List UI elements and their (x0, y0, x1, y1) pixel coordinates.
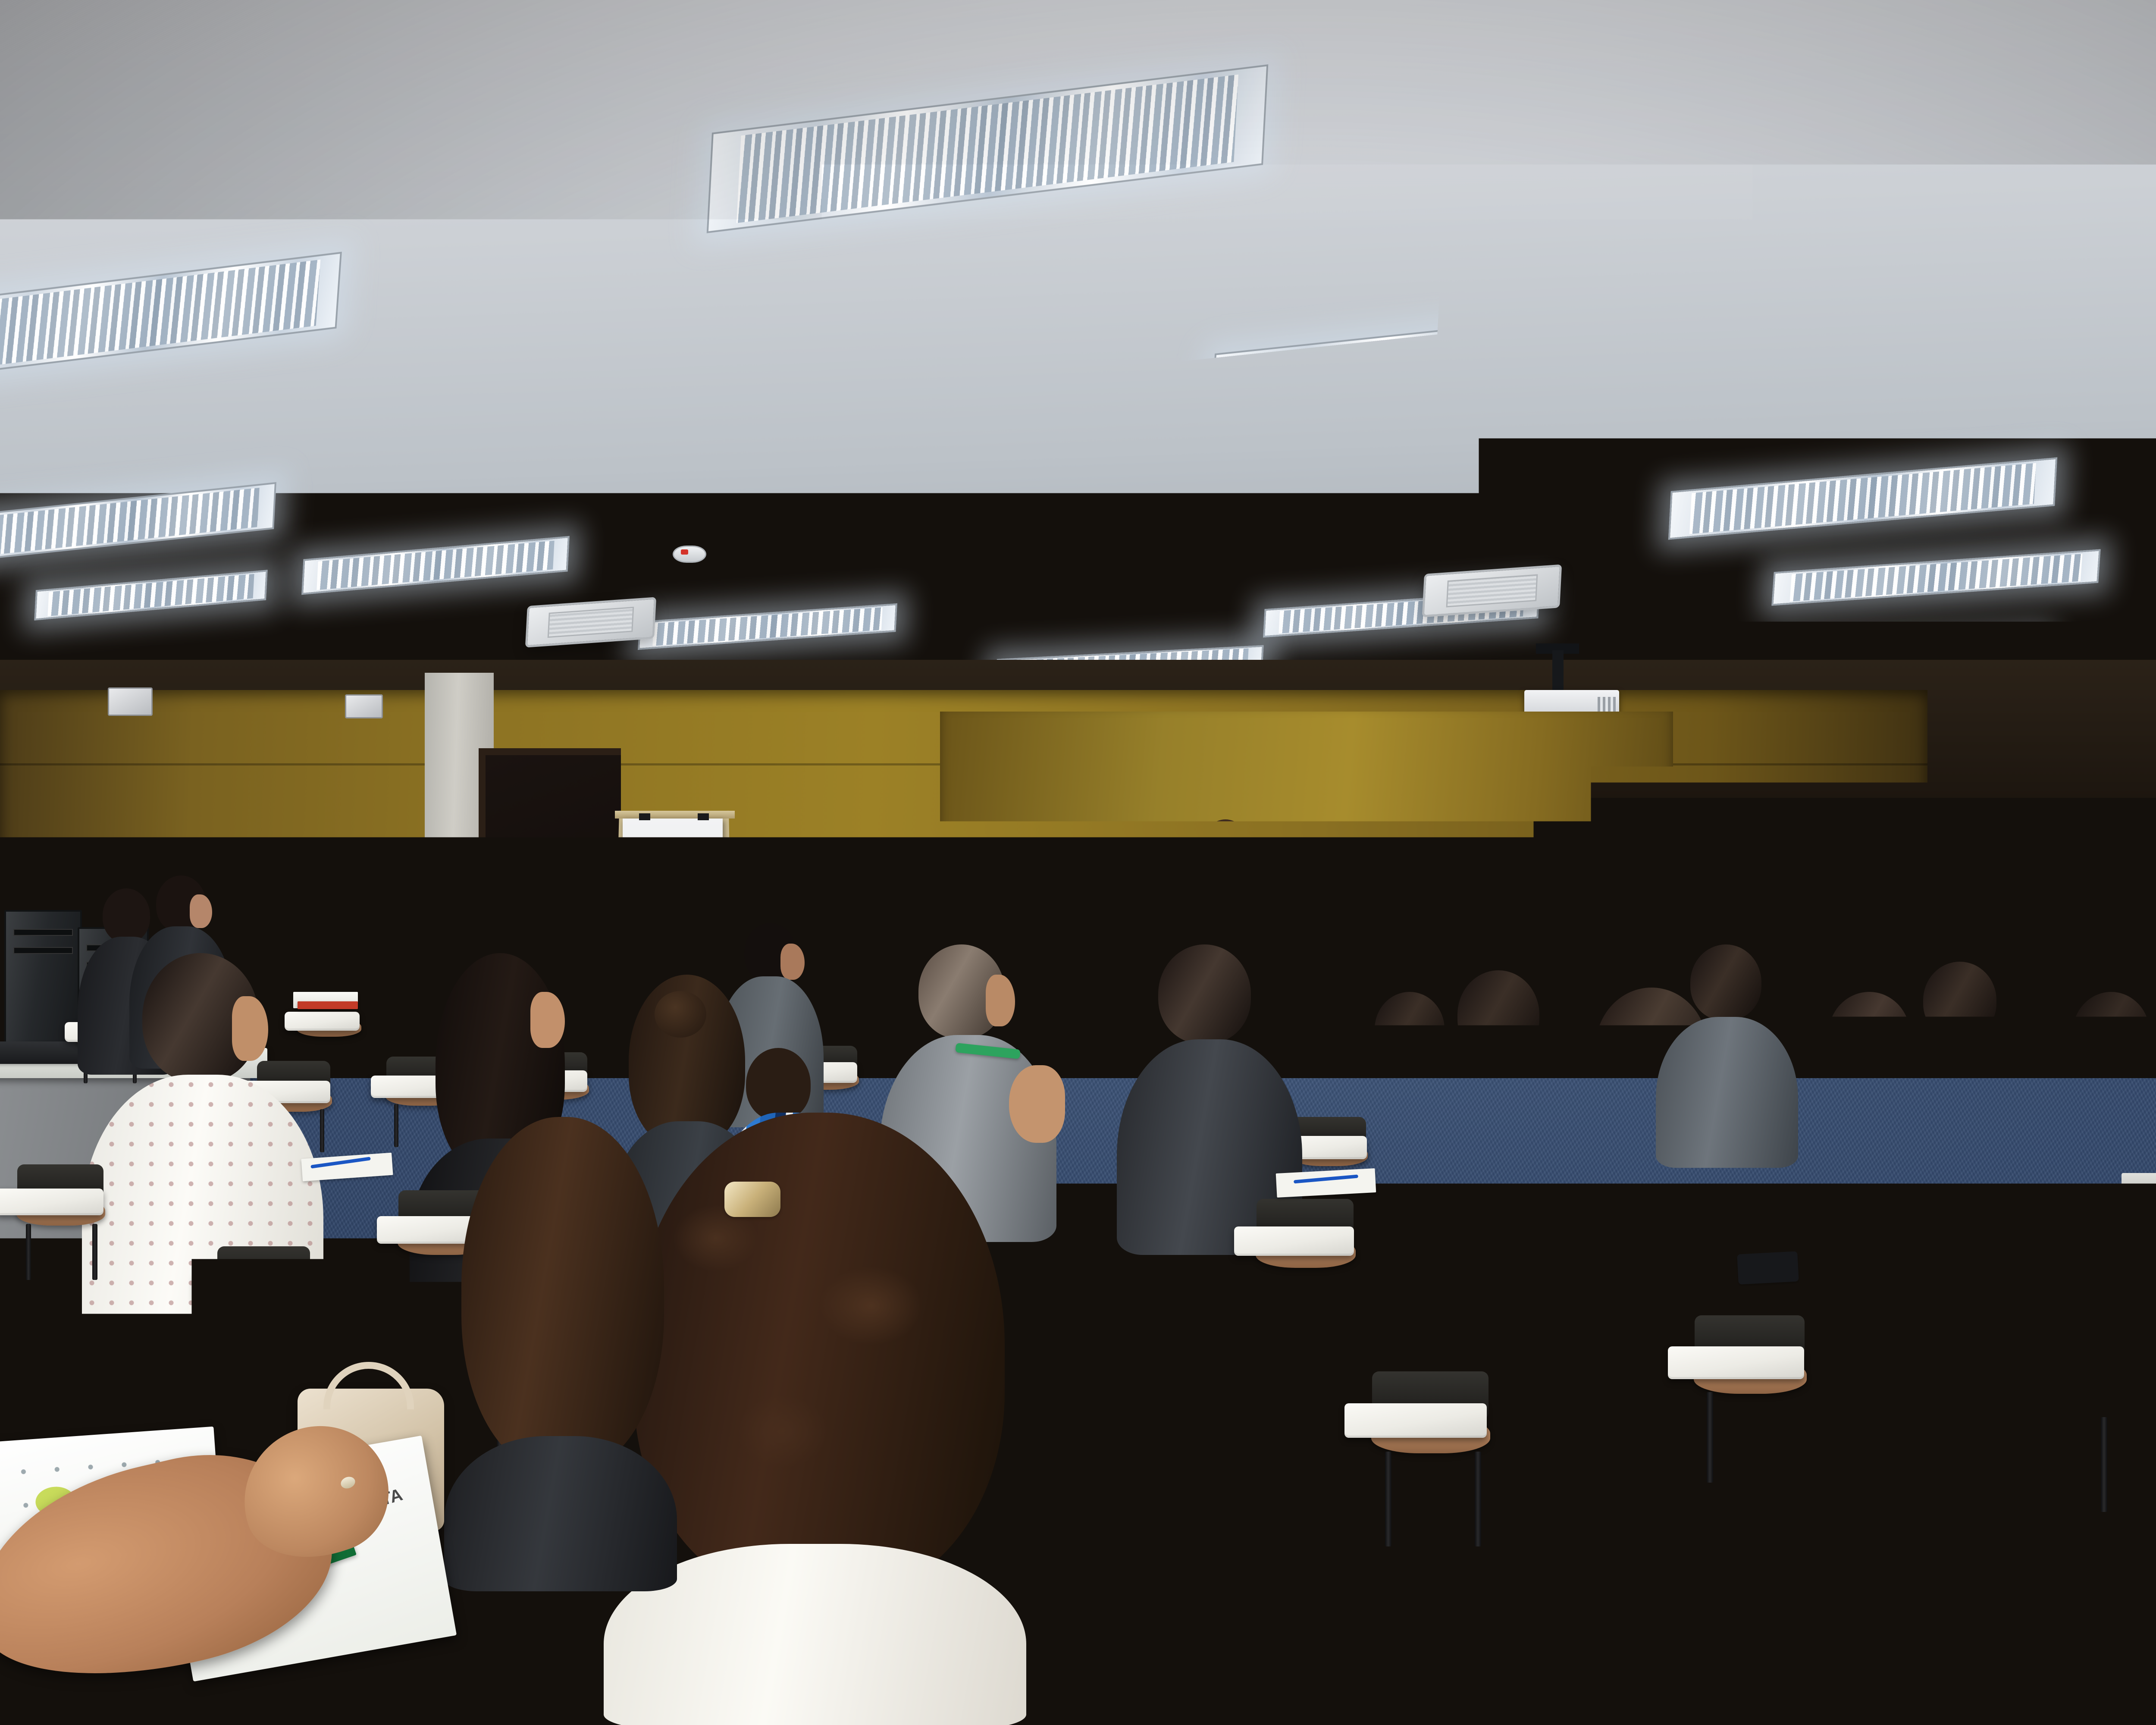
subtitle-1a: Administração (1946, 856, 2028, 872)
slide-subtitle-line-1: Administração de Recursos (1946, 856, 2156, 872)
chair-leg (1858, 1550, 1865, 1658)
projector-mount-arm (1552, 650, 1564, 692)
chair-tablet-arm (1906, 1271, 2034, 1302)
person-face (986, 975, 1015, 1026)
chair-leg (2101, 1417, 2107, 1512)
chair-leg (1185, 1367, 1191, 1449)
auditorium-scene: IFCE CAPACITA INSTITUTO (0, 0, 2156, 1725)
chair-leg (1707, 1392, 1713, 1483)
panelist-face (1334, 837, 1366, 872)
person-face (190, 894, 212, 928)
wall-speaker (108, 687, 153, 716)
chair-leg (1102, 1367, 1108, 1449)
chair-leg (92, 1224, 97, 1280)
person-face (530, 992, 565, 1048)
chair-leg (26, 1224, 31, 1280)
slide-title: PATRIMÔNIO PÚBLICO: (1946, 831, 2156, 855)
chair-leg (226, 1311, 232, 1376)
person-head (746, 1048, 811, 1120)
slide-subtitle: Administração de Recursos Materiais e Pa… (1946, 856, 2156, 903)
chair-tablet-arm (194, 1273, 310, 1302)
person-hair (461, 1117, 664, 1471)
chair-tablet-arm (1814, 1496, 1969, 1534)
flipchart-clip (639, 813, 650, 820)
projection-screen: IFCE CAPACITA INSTITUTO (1921, 707, 2156, 996)
chair-leg (1608, 1586, 1615, 1694)
person-face (780, 944, 805, 980)
chair-leg (1475, 1452, 1481, 1546)
wall-speaker (345, 694, 383, 718)
person-face (232, 996, 268, 1061)
chair-tablet-arm (1065, 1324, 1197, 1356)
chair-tablet-arm (1156, 1603, 1349, 1648)
easel-top-rail (615, 811, 735, 819)
flipchart-paper (623, 819, 723, 988)
hair-clip (724, 1182, 780, 1217)
ceiling (0, 0, 2156, 699)
person-head (1375, 992, 1445, 1066)
slide-subtitle-line-2: Materiais e Patrimoniais com o uso (1946, 872, 2156, 888)
flipchart-clip (698, 813, 709, 820)
audience-member (440, 1117, 681, 1591)
chair-tablet-arm (2060, 1369, 2156, 1403)
panelist-face (1209, 832, 1242, 869)
smoke-detector (673, 546, 706, 563)
chair-leg (1385, 1452, 1391, 1546)
person-head (1158, 944, 1251, 1044)
chair-leg (1954, 1550, 1961, 1658)
chair-tablet-arm (1410, 1271, 1538, 1302)
paper-on-desk (1798, 1206, 1906, 1236)
screen-surface: IFCE CAPACITA INSTITUTO (1928, 713, 2156, 989)
chair-tablet-arm (1315, 1682, 1548, 1725)
slide-subtitle-line-3: do módulo SUAP Patrimônio (1946, 888, 2156, 903)
chair-tablet-arm (1344, 1403, 1487, 1438)
audience-member (1656, 944, 1798, 1169)
chair-tablet-arm (1234, 1226, 1354, 1256)
chair-leg (298, 1311, 304, 1376)
person-head (1690, 944, 1761, 1020)
panelist-face (1444, 836, 1475, 872)
person-hair-bun (655, 991, 706, 1038)
slide-title-word-2: PÚBLICO: (2136, 831, 2156, 855)
subtitle-1b: de (2113, 856, 2128, 872)
person-torso (1656, 1017, 1798, 1168)
person-hair (634, 1113, 1005, 1596)
smartphone-on-desk (1737, 1251, 1799, 1284)
person-torso (1341, 1063, 1483, 1222)
chair-tablet-arm (1668, 1346, 1804, 1379)
chair-leg (1708, 1586, 1715, 1694)
person-torso (444, 1436, 677, 1591)
chair-tablet-arm (1564, 1532, 1723, 1570)
screen-glare (1928, 713, 2156, 840)
person-head (1871, 1039, 1988, 1169)
paper-on-desk (2100, 1240, 2156, 1269)
person-head (1923, 962, 1996, 1038)
chair-leg (394, 1104, 398, 1147)
chair-tablet-arm (0, 1189, 103, 1215)
smoke-detector (2083, 626, 2107, 638)
